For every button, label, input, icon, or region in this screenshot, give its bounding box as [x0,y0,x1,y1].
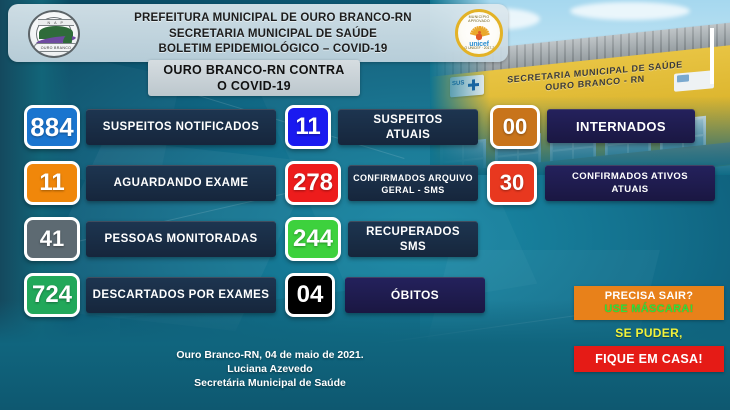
campaign-line-2: O COVID-19 [217,79,291,93]
cta-line-2: USE MÁSCARA! [604,303,693,316]
stat-value-badge: 11 [285,105,331,149]
footer-name: Luciana Azevedo [0,362,540,376]
page-title: PREFEITURA MUNICIPAL DE OURO BRANCO-RN S… [108,11,438,58]
unicef-seal-icon: MUNICÍPIO APROVADO unicef SELO UNICEF · … [455,9,503,57]
statistic-row: 11AGUARDANDO EXAME278CONFIRMADOS ARQUIVO… [0,157,730,213]
footer-signature: Ouro Branco-RN, 04 de maio de 2021. Luci… [0,348,540,390]
stat-value-badge: 41 [24,217,80,261]
statistic-row: 41PESSOAS MONITORADAS244RECUPERADOS SMS [0,213,730,269]
campaign-banner-text: OURO BRANCO-RN CONTRA O COVID-19 [163,62,344,94]
stat-value-badge: 11 [24,161,80,205]
stat-value-badge: 00 [490,105,540,149]
city-crest-icon: N A P OURO BRANCO [28,10,80,58]
stat-label: DESCARTADOS POR EXAMES [86,277,276,313]
stat-label: RECUPERADOS SMS [348,221,478,257]
stat-label: INTERNADOS [547,109,695,143]
stat-label: CONFIRMADOS ARQUIVO GERAL - SMS [348,165,478,201]
stat-label: PESSOAS MONITORADAS [86,221,276,257]
stat-value-badge: 884 [24,105,80,149]
footer-date: Ouro Branco-RN, 04 de maio de 2021. [0,348,540,362]
prevention-callout: PRECISA SAIR? USE MÁSCARA! SE PUDER, FIQ… [574,286,724,372]
title-line-3: BOLETIM EPIDEMIOLÓGICO – COVID-19 [108,42,438,58]
stat-label: ÓBITOS [345,277,485,313]
statistic-row: 884SUSPEITOS NOTIFICADOS11SUSPEITOS ATUA… [0,101,730,157]
campaign-banner: OURO BRANCO-RN CONTRA O COVID-19 [148,60,360,96]
cta-line-4: FIQUE EM CASA! [574,346,724,372]
stat-value-badge: 244 [285,217,341,261]
seal-arc-top: MUNICÍPIO APROVADO [458,15,500,23]
footer-role: Secretária Municipal de Saúde [0,376,540,390]
stat-label: CONFIRMADOS ATIVOS ATUAIS [545,165,715,201]
crest-ribbon: OURO BRANCO [34,43,78,52]
cta-orange-block: PRECISA SAIR? USE MÁSCARA! [574,286,724,320]
stat-label: AGUARDANDO EXAME [86,165,276,201]
campaign-line-1: OURO BRANCO-RN CONTRA [163,63,344,77]
crest-ribbon-text: OURO BRANCO [35,44,77,52]
cta-divider [710,28,714,84]
seal-figure-icon [475,31,483,40]
stat-value-badge: 724 [24,273,80,317]
header-bar: N A P OURO BRANCO PREFEITURA MUNICIPAL D… [8,4,508,62]
stat-value-badge: 04 [285,273,335,317]
bulletin-canvas: SUS SECRETARIA MUNICIPAL DE SAÚDE OURO B… [0,0,730,410]
stat-value-badge: 278 [285,161,341,205]
crest-band: N A P [38,19,74,26]
cta-line-3: SE PUDER, [574,320,724,346]
title-line-2: SECRETARIA MUNICIPAL DE SAÚDE [108,27,438,43]
cta-line-1: PRECISA SAIR? [605,290,693,303]
stat-value-badge: 30 [487,161,537,205]
stat-label: SUSPEITOS ATUAIS [338,109,478,145]
stat-label: SUSPEITOS NOTIFICADOS [86,109,276,145]
seal-arc-bottom: SELO UNICEF · 2017-2020 [458,46,500,50]
title-line-1: PREFEITURA MUNICIPAL DE OURO BRANCO-RN [108,11,438,27]
